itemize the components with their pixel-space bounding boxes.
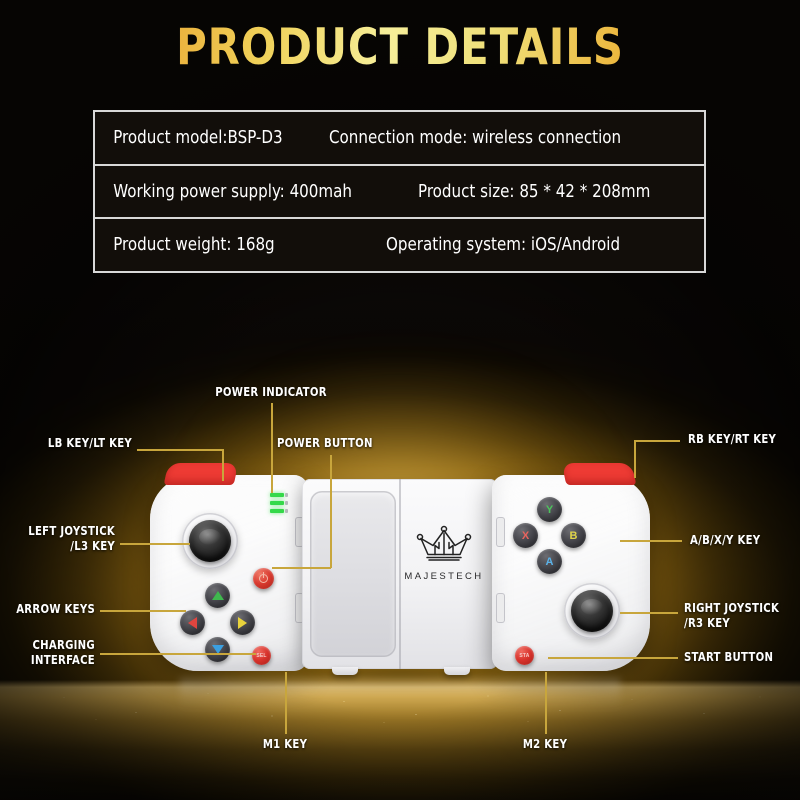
led-bar [270,509,284,513]
label-m1-key: M1 KEY [249,737,321,752]
right-joystick[interactable] [564,583,620,639]
table-row: Product model:BSP-D3 Connection mode: wi… [95,112,704,166]
label-charging-interface: CHARGING INTERFACE [10,638,96,668]
power-button[interactable] [253,568,274,589]
button-a[interactable]: A [537,549,562,574]
label-abxy-key: A/B/X/Y KEY [690,533,760,548]
left-joystick[interactable] [182,513,238,569]
spec-cell-weight: Product weight: 168g [95,235,275,255]
label-m2-key: M2 KEY [509,737,581,752]
leader-line-m2 [545,672,547,734]
controller-reflection [180,678,620,712]
label-lb-lt-key: LB KEY/LT KEY [13,436,132,451]
label-right-joystick: RIGHT JOYSTICK /R3 KEY [684,601,779,631]
product-detail-image: PRODUCT DETAILS Product model:BSP-D3 Con… [0,0,800,800]
crown-icon [413,523,475,563]
label-rb-rt-key: RB KEY/RT KEY [688,432,776,447]
leader-line-rb-rt-v [634,440,636,478]
leader-line-start-button [548,657,678,659]
label-right-joystick-line2: /R3 KEY [684,616,779,631]
power-icon [259,574,268,583]
leader-line-lb-lt-h [137,449,223,451]
leader-line-charging [100,653,256,655]
leader-line-rb-rt-h [634,440,680,442]
button-b[interactable]: B [561,523,586,548]
phone-cradle [310,491,396,657]
start-button[interactable]: STA [515,646,534,665]
right-joystick-cap [571,590,613,632]
spec-table: Product model:BSP-D3 Connection mode: wi… [93,110,706,273]
leader-line-left-joystick [120,543,190,545]
leader-line-power-button-v [330,455,332,568]
m1-key[interactable] [332,667,358,675]
rb-rt-bumper[interactable] [562,463,637,485]
m2-key[interactable] [444,667,470,675]
dpad-down-button[interactable] [205,637,230,662]
game-controller: SEL [150,465,650,680]
leader-line-abxy [620,540,682,542]
label-right-joystick-line1: RIGHT JOYSTICK [684,601,779,616]
table-row: Product weight: 168g Operating system: i… [95,219,704,271]
button-y[interactable]: Y [537,497,562,522]
spec-cell-size: Product size: 85 * 42 * 208mm [418,182,650,202]
dpad-left-button[interactable] [180,610,205,635]
leader-line-right-joystick [620,612,678,614]
left-joystick-cap [189,520,231,562]
label-start-button: START BUTTON [684,650,773,665]
label-arrow-keys: ARROW KEYS [10,602,96,617]
right-rail-tab [496,517,505,547]
dpad-up-button[interactable] [205,583,230,608]
leader-line-m1 [285,672,287,734]
page-title: PRODUCT DETAILS [28,18,772,76]
arrow-left-icon [188,617,197,629]
arrow-up-icon [212,591,224,600]
brand-name: MAJESTECH [396,571,492,582]
label-charging-line2: INTERFACE [10,653,96,668]
button-x[interactable]: X [513,523,538,548]
led-bar [270,493,284,497]
leader-line-arrow-keys [100,610,186,612]
right-grip [492,475,650,671]
label-charging-line1: CHARGING [10,638,96,653]
label-power-indicator: POWER INDICATOR [181,385,361,400]
spec-cell-connection: Connection mode: wireless connection [329,128,621,148]
label-left-joystick-line1: LEFT JOYSTICK [12,524,116,539]
label-left-joystick: LEFT JOYSTICK /L3 KEY [12,524,116,554]
leader-line-power-indicator [271,403,273,493]
arrow-right-icon [238,617,247,629]
spec-cell-os: Operating system: iOS/Android [386,235,620,255]
leader-line-power-button-h [272,567,331,569]
power-indicator-leds [270,493,284,513]
spec-cell-power-supply: Working power supply: 400mah [95,182,352,202]
select-button[interactable]: SEL [252,646,271,665]
lb-lt-bumper[interactable] [164,463,239,485]
led-bar [270,501,284,505]
right-rail-tab [496,593,505,623]
brand-logo: MAJESTECH [396,523,492,582]
table-row: Working power supply: 400mah Product siz… [95,166,704,220]
leader-line-lb-lt-v [222,449,224,481]
label-left-joystick-line2: /L3 KEY [12,539,116,554]
spec-cell-model: Product model:BSP-D3 [95,128,283,148]
label-power-button: POWER BUTTON [277,436,373,451]
dpad-right-button[interactable] [230,610,255,635]
